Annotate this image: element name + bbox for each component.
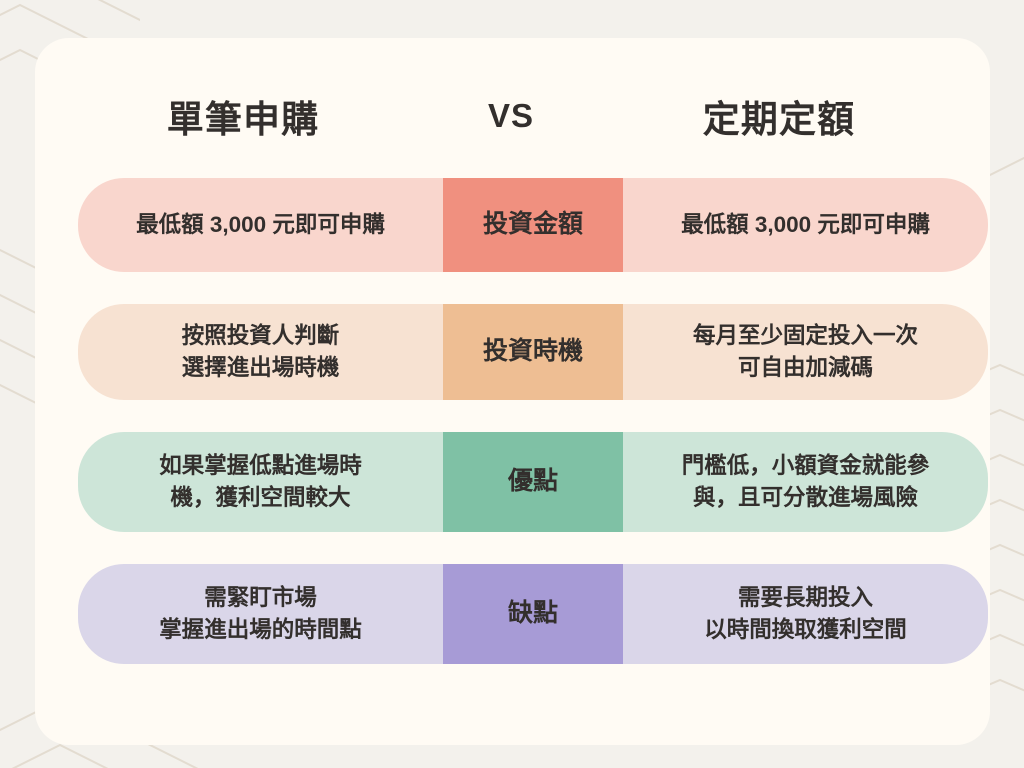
row-right-value: 每月至少固定投入一次 可自由加減碼 bbox=[623, 304, 988, 400]
comparison-header: 單筆申購 VS 定期定額 bbox=[35, 78, 990, 154]
comparison-row: 需緊盯市場 掌握進出場的時間點 缺點 需要長期投入 以時間換取獲利空間 bbox=[78, 564, 988, 664]
comparison-row: 最低額 3,000 元即可申購 投資金額 最低額 3,000 元即可申購 bbox=[78, 178, 988, 272]
header-versus-label: VS bbox=[408, 78, 614, 154]
row-right-value: 需要長期投入 以時間換取獲利空間 bbox=[623, 564, 988, 664]
header-left-title: 單筆申購 bbox=[78, 78, 408, 154]
row-right-value: 最低額 3,000 元即可申購 bbox=[623, 178, 988, 272]
row-category-label: 投資金額 bbox=[443, 178, 623, 272]
row-left-value: 最低額 3,000 元即可申購 bbox=[78, 178, 443, 272]
infographic-card: 單筆申購 VS 定期定額 最低額 3,000 元即可申購 投資金額 最低額 3,… bbox=[35, 38, 990, 745]
row-category-label: 優點 bbox=[443, 432, 623, 532]
row-right-value: 門檻低，小額資金就能參 與，且可分散進場風險 bbox=[623, 432, 988, 532]
comparison-row: 如果掌握低點進場時 機，獲利空間較大 優點 門檻低，小額資金就能參 與，且可分散… bbox=[78, 432, 988, 532]
row-left-value: 需緊盯市場 掌握進出場的時間點 bbox=[78, 564, 443, 664]
header-right-title: 定期定額 bbox=[614, 78, 944, 154]
comparison-row: 按照投資人判斷 選擇進出場時機 投資時機 每月至少固定投入一次 可自由加減碼 bbox=[78, 304, 988, 400]
row-left-value: 按照投資人判斷 選擇進出場時機 bbox=[78, 304, 443, 400]
row-category-label: 投資時機 bbox=[443, 304, 623, 400]
row-category-label: 缺點 bbox=[443, 564, 623, 664]
row-left-value: 如果掌握低點進場時 機，獲利空間較大 bbox=[78, 432, 443, 532]
